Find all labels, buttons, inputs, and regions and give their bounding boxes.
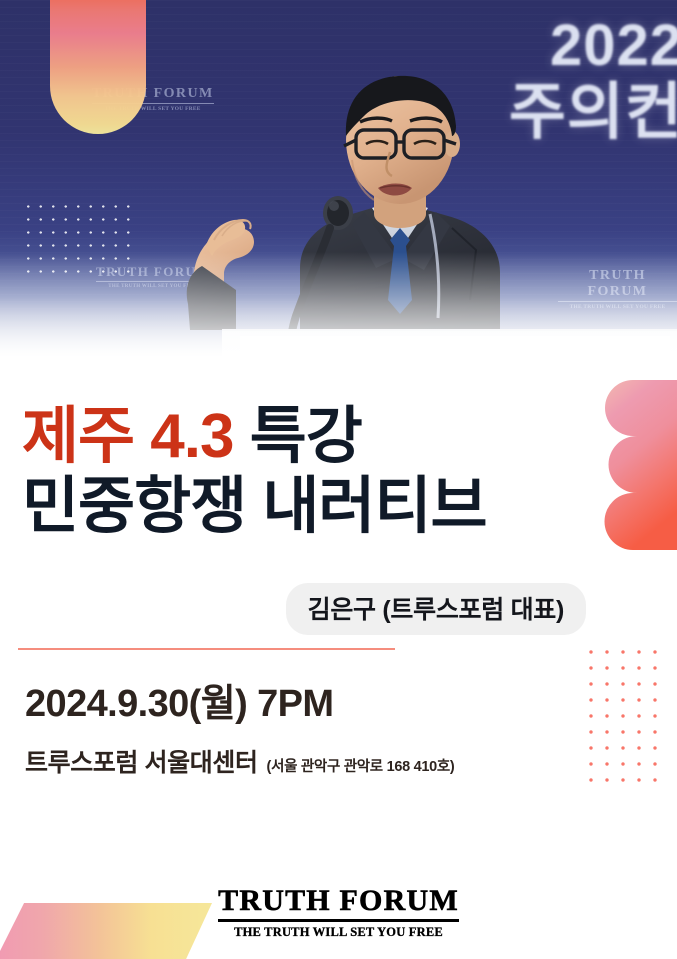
footer-logo: TRUTH FORUM THE TRUTH WILL SET YOU FREE (0, 884, 677, 940)
photo-bottom-fade (0, 252, 677, 372)
event-poster: 2022 주의컨 TRUTH FORUM THE TRUTH WILL SET … (0, 0, 677, 959)
speaker-name-badge: 김은구 (트루스포럼 대표) (286, 583, 586, 635)
scalloped-gradient-shape (593, 380, 677, 550)
headline-accent-text: 제주 4.3 (22, 402, 234, 471)
event-venue: 트루스포럼 서울대센터 (서울 관악구 관악로 168 410호) (25, 743, 454, 779)
headline-line-1: 제주 4.3 특강 (22, 405, 487, 469)
footer-logo-tagline: THE TRUTH WILL SET YOU FREE (0, 925, 677, 940)
poster-headline: 제주 4.3 특강 민중항쟁 내러티브 (22, 405, 487, 539)
section-divider (18, 648, 395, 650)
poster-content: 제주 4.3 특강 민중항쟁 내러티브 김은구 (트루스포럼 대표) 2024.… (0, 372, 677, 959)
venue-address: (서울 관악구 관악로 168 410호) (267, 755, 455, 776)
speaker-badge-row: 김은구 (트루스포럼 대표) (0, 583, 677, 635)
red-dot-grid (583, 644, 669, 794)
headline-line-2: 민중항쟁 내러티브 (22, 475, 487, 539)
venue-name: 트루스포럼 서울대센터 (25, 743, 258, 779)
event-date: 2024.9.30(월) 7PM (25, 672, 333, 727)
headline-dark-text: 특강 (250, 402, 362, 471)
footer-logo-title: TRUTH FORUM (218, 884, 459, 922)
hero-photo: 2022 주의컨 TRUTH FORUM THE TRUTH WILL SET … (0, 0, 677, 372)
